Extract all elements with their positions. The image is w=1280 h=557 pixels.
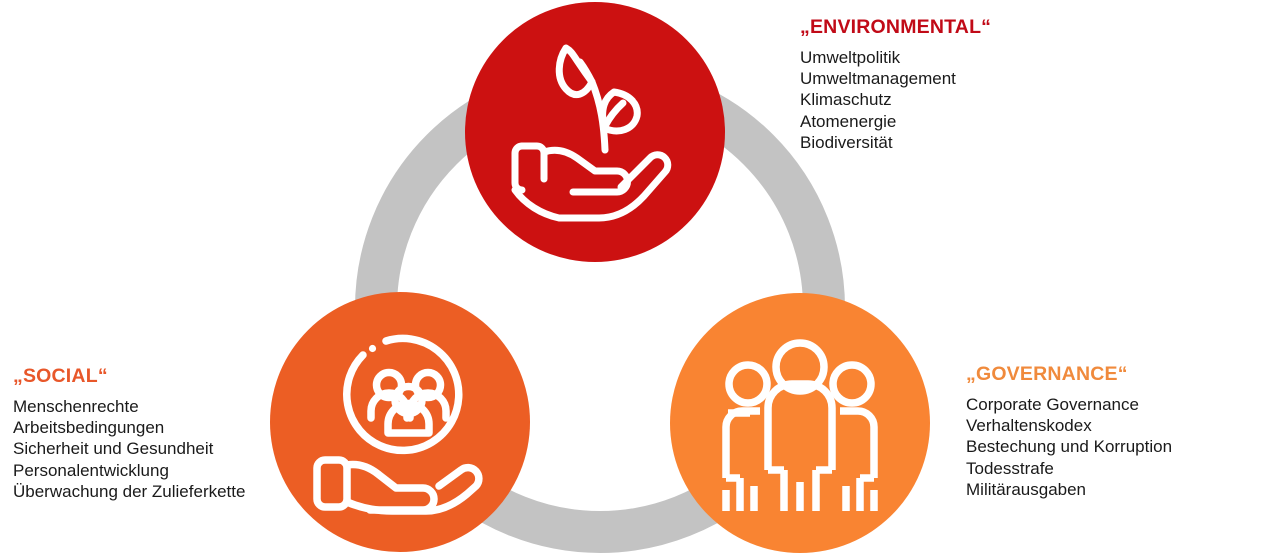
social-title: „SOCIAL“ [13,365,245,387]
list-item: Arbeitsbedingungen [13,417,245,438]
list-item: Biodiversität [800,132,991,153]
governance-text-block: „GOVERNANCE“ Corporate Governance Verhal… [966,363,1172,500]
list-item: Militärausgaben [966,479,1172,500]
list-item: Personalentwicklung [13,460,245,481]
environmental-text-block: „ENVIRONMENTAL“ Umweltpolitik Umweltmana… [800,16,991,153]
list-item: Todesstrafe [966,458,1172,479]
environmental-circle[interactable] [465,2,725,262]
list-item: Sicherheit und Gesundheit [13,438,245,459]
node-governance[interactable] [670,293,930,553]
node-environmental[interactable] [465,2,725,262]
environmental-title: „ENVIRONMENTAL“ [800,16,991,38]
environmental-topic-list: Umweltpolitik Umweltmanagement Klimaschu… [800,47,991,153]
governance-topic-list: Corporate Governance Verhaltenskodex Bes… [966,394,1172,500]
social-text-block: „SOCIAL“ Menschenrechte Arbeitsbedingung… [13,365,245,502]
list-item: Menschenrechte [13,396,245,417]
social-topic-list: Menschenrechte Arbeitsbedingungen Sicher… [13,396,245,502]
list-item: Verhaltenskodex [966,415,1172,436]
list-item: Umweltpolitik [800,47,991,68]
list-item: Klimaschutz [800,89,991,110]
list-item: Corporate Governance [966,394,1172,415]
governance-title: „GOVERNANCE“ [966,363,1172,385]
node-social[interactable] [270,292,530,552]
list-item: Atomenergie [800,111,991,132]
esg-diagram-canvas: „ENVIRONMENTAL“ Umweltpolitik Umweltmana… [0,0,1280,557]
list-item: Bestechung und Korruption [966,436,1172,457]
governance-circle[interactable] [670,293,930,553]
list-item: Überwachung der Zulieferkette [13,481,245,502]
list-item: Umweltmanagement [800,68,991,89]
